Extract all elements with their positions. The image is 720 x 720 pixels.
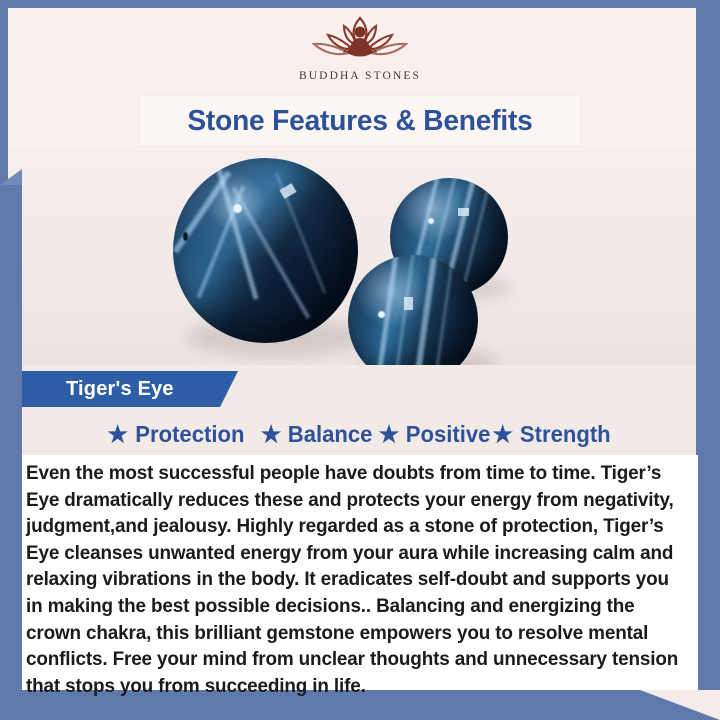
rect-highlight bbox=[404, 297, 413, 310]
section-title-banner: Stone Features & Benefits bbox=[140, 96, 580, 146]
benefit-label: Positive bbox=[406, 421, 491, 448]
star-icon: ★ bbox=[492, 423, 513, 446]
rect-highlight bbox=[458, 208, 469, 216]
gemstone-group bbox=[8, 150, 712, 365]
page-title: Stone Features & Benefits bbox=[187, 105, 532, 138]
description-text: Even the most successful people have dou… bbox=[26, 461, 680, 700]
benefit-item-strength: ★ Strength bbox=[492, 421, 612, 448]
star-icon: ★ bbox=[261, 423, 282, 446]
rect-highlight bbox=[279, 183, 296, 199]
specular-highlight bbox=[233, 204, 242, 213]
specular-highlight bbox=[428, 218, 434, 224]
stone-name-tag: Tiger's Eye bbox=[22, 371, 238, 407]
left-accent-rail bbox=[0, 185, 22, 720]
brand-logo: BUDDHA STONES bbox=[0, 12, 720, 92]
stone-name-label: Tiger's Eye bbox=[66, 378, 174, 401]
lotus-meditation-icon bbox=[300, 12, 420, 68]
benefit-label: Strength bbox=[520, 421, 611, 448]
star-icon: ★ bbox=[107, 423, 128, 446]
product-info-card: BUDDHA STONES Stone Features & Benefits … bbox=[0, 0, 720, 720]
gemstone-sphere-large bbox=[173, 158, 358, 343]
benefit-item-protection: ★ Protection bbox=[107, 421, 246, 448]
star-icon: ★ bbox=[379, 423, 400, 446]
benefit-item-positive: ★ Positive bbox=[379, 421, 493, 448]
gemstone-photo bbox=[8, 150, 712, 365]
drill-hole bbox=[183, 232, 188, 241]
benefit-label: Balance bbox=[288, 421, 373, 448]
benefit-item-balance: ★ Balance bbox=[261, 421, 375, 448]
benefit-label: Protection bbox=[135, 421, 244, 448]
description-box: Even the most successful people have dou… bbox=[22, 455, 698, 690]
brand-name: BUDDHA STONES bbox=[299, 70, 421, 82]
benefits-row: ★ Protection ★ Balance ★ Positive ★ Stre… bbox=[22, 415, 698, 453]
chatoyant-bands-large bbox=[173, 158, 358, 343]
specular-highlight bbox=[378, 311, 385, 318]
